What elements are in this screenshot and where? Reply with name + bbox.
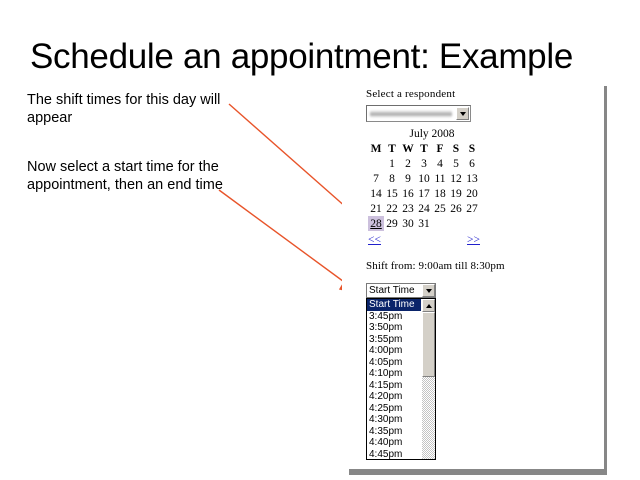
calendar-week-row: 123456 — [368, 156, 480, 171]
chevron-down-icon[interactable] — [456, 107, 469, 120]
calendar-day-15[interactable]: 15 — [384, 186, 400, 201]
start-time-option-list[interactable]: Start Time3:45pm3:50pm3:55pm4:00pm4:05pm… — [366, 298, 436, 460]
calendar-weekday-0: M — [368, 141, 384, 156]
start-time-option[interactable]: 4:35pm — [367, 426, 421, 438]
calendar-day-10[interactable]: 10 — [416, 171, 432, 186]
start-time-option[interactable]: 4:05pm — [367, 357, 421, 369]
calendar-week-row: 14151617181920 — [368, 186, 480, 201]
calendar-weekday-4: F — [432, 141, 448, 156]
calendar-week-row: 28293031 — [368, 216, 480, 231]
start-time-option[interactable]: 3:55pm — [367, 334, 421, 346]
calendar-day-30[interactable]: 30 — [400, 216, 416, 231]
start-time-block: Start Time Start Time3:45pm3:50pm3:55pm4… — [366, 283, 436, 460]
start-time-option[interactable]: 3:50pm — [367, 322, 421, 334]
scheduling-app-panel: Select a respondent July 2008 MTWTFSS 12… — [342, 84, 604, 469]
calendar-prev-month-link[interactable]: << — [368, 234, 381, 246]
callout-shift-times: The shift times for this day will appear — [27, 91, 242, 127]
respondent-label: Select a respondent — [366, 88, 596, 101]
calendar-month-label: July 2008 — [376, 127, 488, 141]
calendar-day-1[interactable]: 1 — [384, 156, 400, 171]
calendar-week-row: 78910111213 — [368, 171, 480, 186]
chevron-down-icon[interactable] — [422, 284, 435, 297]
calendar-day-27[interactable]: 27 — [464, 201, 480, 216]
start-time-option[interactable]: 4:10pm — [367, 368, 421, 380]
calendar-day-31[interactable]: 31 — [416, 216, 432, 231]
calendar-next-month-link[interactable]: >> — [467, 234, 480, 246]
calendar-day-8[interactable]: 8 — [384, 171, 400, 186]
calendar-day-11[interactable]: 11 — [432, 171, 448, 186]
calendar-day-empty — [464, 216, 480, 231]
calendar-day-25[interactable]: 25 — [432, 201, 448, 216]
calendar-week-row: 21222324252627 — [368, 201, 480, 216]
calendar-day-empty — [448, 216, 464, 231]
calendar-day-29[interactable]: 29 — [384, 216, 400, 231]
calendar-day-empty — [432, 216, 448, 231]
calendar-day-26[interactable]: 26 — [448, 201, 464, 216]
calendar-day-9[interactable]: 9 — [400, 171, 416, 186]
start-time-option[interactable]: 4:20pm — [367, 391, 421, 403]
calendar-weekday-6: S — [464, 141, 480, 156]
panel-shadow-bottom — [349, 468, 607, 475]
start-time-option[interactable]: 3:45pm — [367, 311, 421, 323]
calendar-day-16[interactable]: 16 — [400, 186, 416, 201]
calendar-day-17[interactable]: 17 — [416, 186, 432, 201]
calendar-day-20[interactable]: 20 — [464, 186, 480, 201]
arrow-line-2 — [219, 190, 351, 287]
calendar-day-12[interactable]: 12 — [448, 171, 464, 186]
start-time-option[interactable]: 4:30pm — [367, 414, 421, 426]
calendar-day-19[interactable]: 19 — [448, 186, 464, 201]
calendar-day-5[interactable]: 5 — [448, 156, 464, 171]
calendar-weekday-1: T — [384, 141, 400, 156]
calendar-day-7[interactable]: 7 — [368, 171, 384, 186]
start-time-option[interactable]: Start Time — [367, 299, 421, 311]
calendar-weekday-3: T — [416, 141, 432, 156]
respondent-value-redacted — [370, 110, 452, 118]
calendar-day-24[interactable]: 24 — [416, 201, 432, 216]
triangle-up-icon[interactable] — [422, 299, 435, 312]
calendar-weekday-row: MTWTFSS — [368, 141, 480, 156]
shift-hours-text: Shift from: 9:00am till 8:30pm — [366, 260, 596, 273]
calendar-day-6[interactable]: 6 — [464, 156, 480, 171]
calendar-day-14[interactable]: 14 — [368, 186, 384, 201]
respondent-select[interactable] — [366, 105, 471, 122]
page-title: Schedule an appointment: Example — [30, 36, 610, 78]
start-time-option[interactable]: 4:45pm — [367, 449, 421, 460]
calendar-body: 1234567891011121314151617181920212223242… — [368, 156, 480, 231]
calendar-weekday-2: W — [400, 141, 416, 156]
start-time-scrollbar[interactable] — [421, 299, 435, 459]
calendar-day-13[interactable]: 13 — [464, 171, 480, 186]
calendar-widget[interactable]: July 2008 MTWTFSS 1234567891011121314151… — [366, 127, 596, 246]
start-time-options-container: Start Time3:45pm3:50pm3:55pm4:00pm4:05pm… — [367, 299, 421, 459]
calendar-table: MTWTFSS 12345678910111213141516171819202… — [368, 141, 480, 231]
start-time-option[interactable]: 4:00pm — [367, 345, 421, 357]
calendar-weekday-5: S — [448, 141, 464, 156]
calendar-nav: << >> — [368, 234, 480, 246]
calendar-day-21[interactable]: 21 — [368, 201, 384, 216]
calendar-day-4[interactable]: 4 — [432, 156, 448, 171]
calendar-day-3[interactable]: 3 — [416, 156, 432, 171]
calendar-day-2[interactable]: 2 — [400, 156, 416, 171]
start-time-option[interactable]: 4:15pm — [367, 380, 421, 392]
calendar-day-empty — [368, 156, 384, 171]
scrollbar-track[interactable] — [422, 312, 435, 459]
calendar-day-18[interactable]: 18 — [432, 186, 448, 201]
scrollbar-thumb[interactable] — [422, 312, 435, 377]
calendar-day-23[interactable]: 23 — [400, 201, 416, 216]
calendar-day-22[interactable]: 22 — [384, 201, 400, 216]
start-time-option[interactable]: 4:25pm — [367, 403, 421, 415]
calendar-day-28[interactable]: 28 — [368, 216, 384, 231]
start-time-combo[interactable]: Start Time — [366, 283, 436, 298]
start-time-combo-value: Start Time — [369, 285, 415, 296]
start-time-option[interactable]: 4:40pm — [367, 437, 421, 449]
callout-select-start-time: Now select a start time for the appointm… — [27, 158, 242, 194]
